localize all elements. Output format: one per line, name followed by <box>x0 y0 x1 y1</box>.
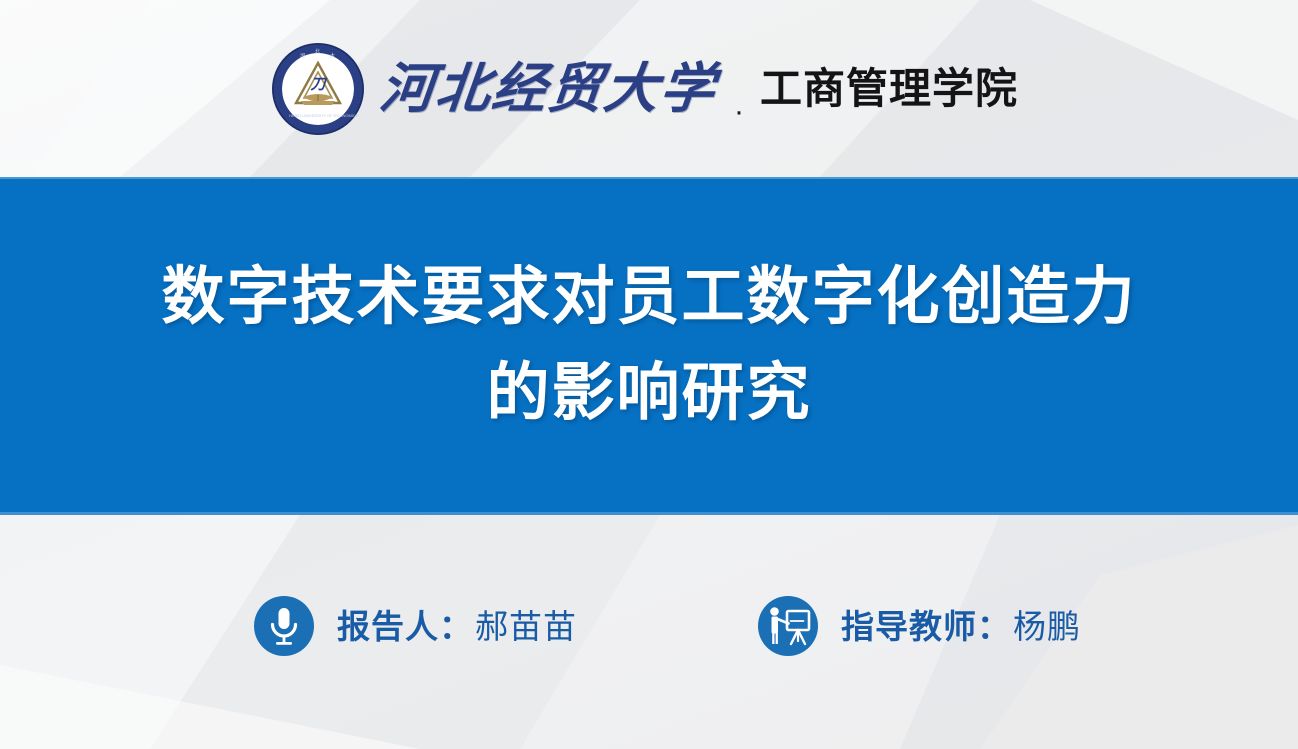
credit-presenter-role: 报告人： <box>337 608 473 645</box>
microphone-icon <box>253 595 315 657</box>
presentation-title-slide: 刀 河北大 HEBEI UNIVERSITY OF ECONOMICS 河北经贸… <box>0 0 1298 749</box>
credit-advisor: 指导教师：杨鹏 <box>757 595 1081 657</box>
university-logo-icon: 刀 河北大 HEBEI UNIVERSITY OF ECONOMICS <box>270 41 366 137</box>
credit-advisor-text: 指导教师：杨鹏 <box>841 610 1081 643</box>
svg-text:HEBEI UNIVERSITY OF ECONOMICS: HEBEI UNIVERSITY OF ECONOMICS <box>289 113 359 118</box>
credit-presenter: 报告人：郝苗苗 <box>253 595 577 657</box>
credits-row: 报告人：郝苗苗 指导教师：杨 <box>0 560 1298 692</box>
university-name-text: 河北经贸大学 <box>377 62 719 116</box>
teacher-presenting-icon <box>757 595 819 657</box>
title-band: 数字技术要求对员工数字化创造力 的影响研究 <box>0 177 1298 515</box>
credit-presenter-name: 郝苗苗 <box>475 608 577 645</box>
slide-header: 刀 河北大 HEBEI UNIVERSITY OF ECONOMICS 河北经贸… <box>0 0 1298 177</box>
credit-presenter-text: 报告人：郝苗苗 <box>337 610 577 643</box>
presentation-title-line-2: 的影响研究 <box>487 346 812 442</box>
brand-lockup: 刀 河北大 HEBEI UNIVERSITY OF ECONOMICS 河北经贸… <box>270 41 1018 137</box>
svg-text:北: 北 <box>315 48 320 55</box>
presentation-title-line-1: 数字技术要求对员工数字化创造力 <box>162 250 1137 346</box>
svg-text:刀: 刀 <box>310 77 327 93</box>
svg-text:大: 大 <box>330 52 335 59</box>
college-name-text: 工商管理学院 <box>760 68 1018 110</box>
brand-separator-dot: · <box>730 97 746 137</box>
credit-advisor-name: 杨鹏 <box>1013 608 1081 645</box>
credit-advisor-role: 指导教师： <box>841 608 1011 645</box>
svg-text:河: 河 <box>300 52 305 59</box>
